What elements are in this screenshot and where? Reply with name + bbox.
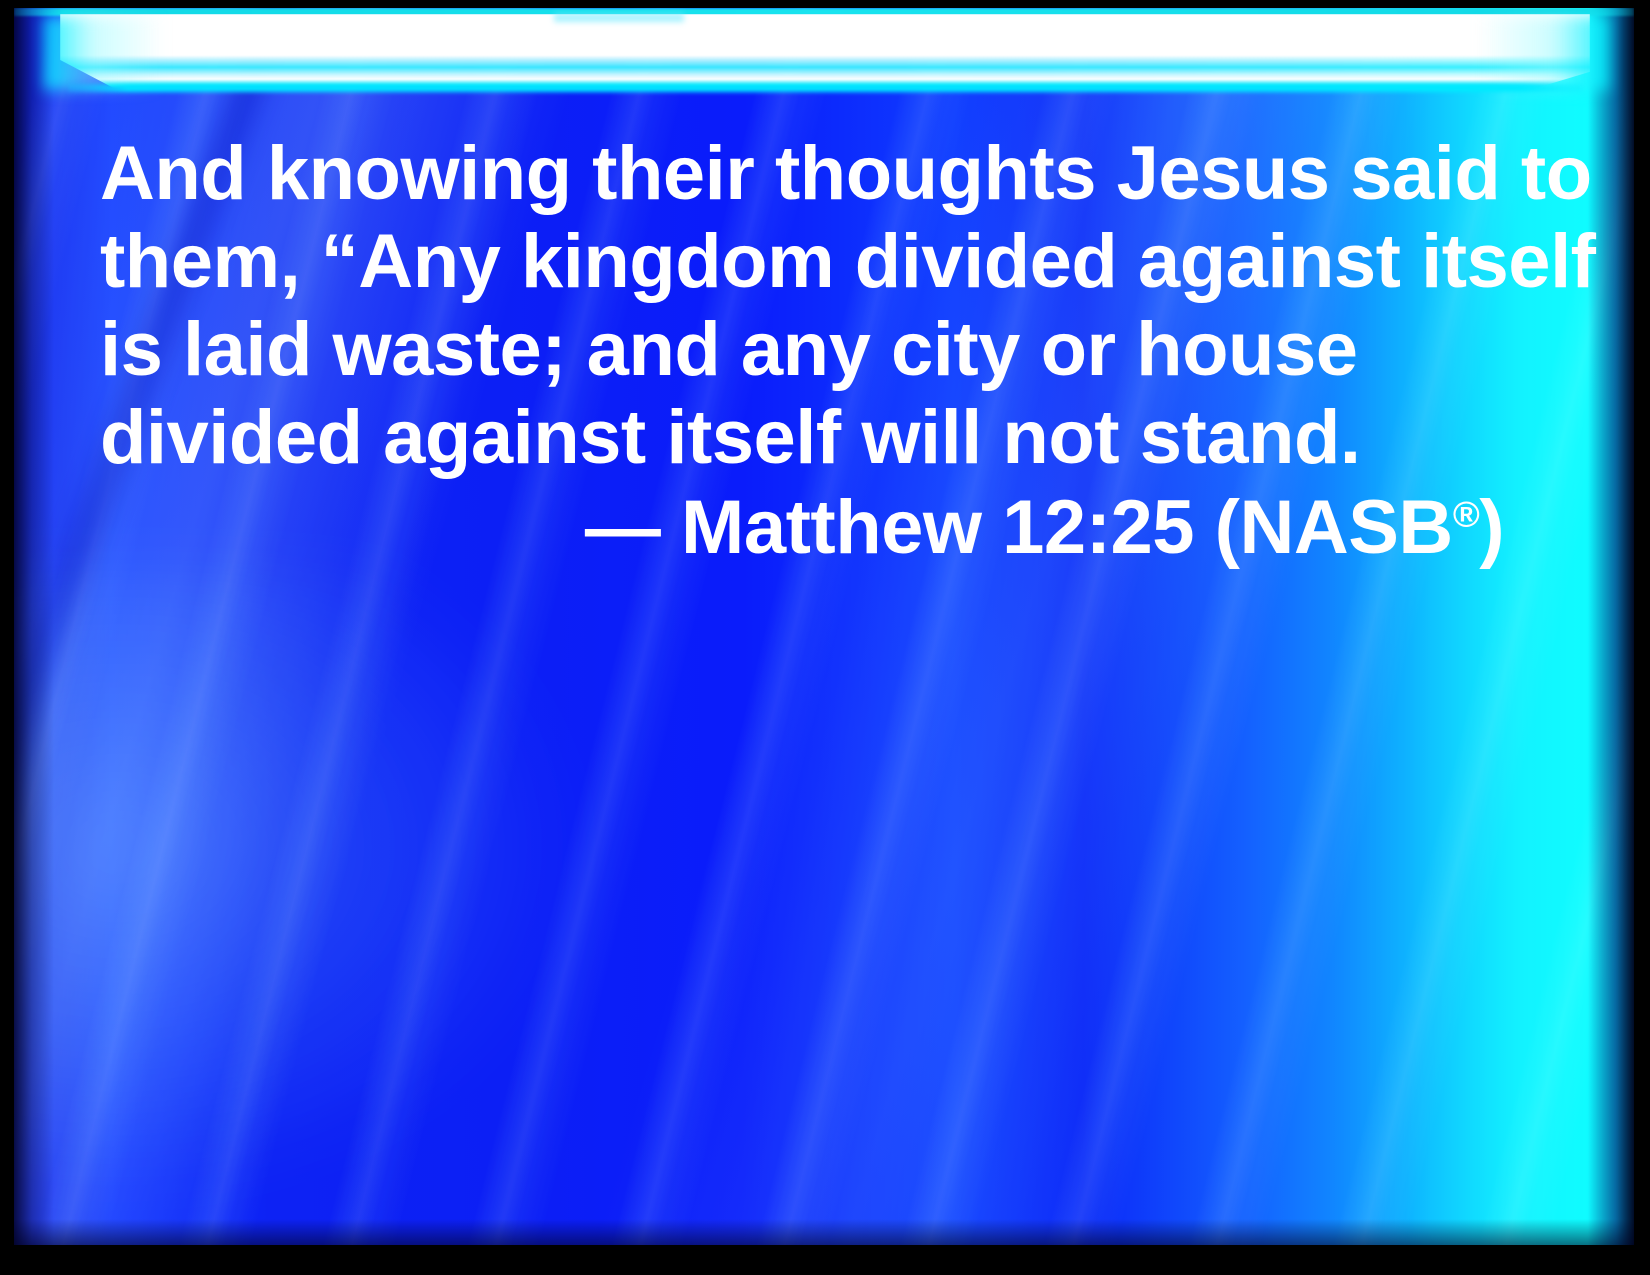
verse-line-2: them, “Any kingdom divided against itsel… xyxy=(100,218,1520,306)
verse-attribution: — Matthew 12:25 (NASB®) xyxy=(100,484,1520,572)
background-lower-left-glow xyxy=(14,568,574,1188)
attribution-close-paren: ) xyxy=(1479,485,1504,570)
verse-line-1: And knowing their thoughts Jesus said to xyxy=(100,130,1520,218)
background-left-vignette xyxy=(14,8,54,1245)
verse-slide: And knowing their thoughts Jesus said to… xyxy=(0,0,1650,1275)
slide-canvas: And knowing their thoughts Jesus said to… xyxy=(14,8,1634,1245)
background-right-vignette xyxy=(1588,8,1634,1245)
registered-trademark-icon: ® xyxy=(1453,494,1479,535)
background-bottom-vignette xyxy=(14,1219,1634,1245)
verse-text-block: And knowing their thoughts Jesus said to… xyxy=(100,130,1520,572)
attribution-main-text: — Matthew 12:25 (NASB xyxy=(585,485,1453,570)
verse-line-3: is laid waste; and any city or house xyxy=(100,306,1520,394)
verse-line-4: divided against itself will not stand. xyxy=(100,394,1520,482)
